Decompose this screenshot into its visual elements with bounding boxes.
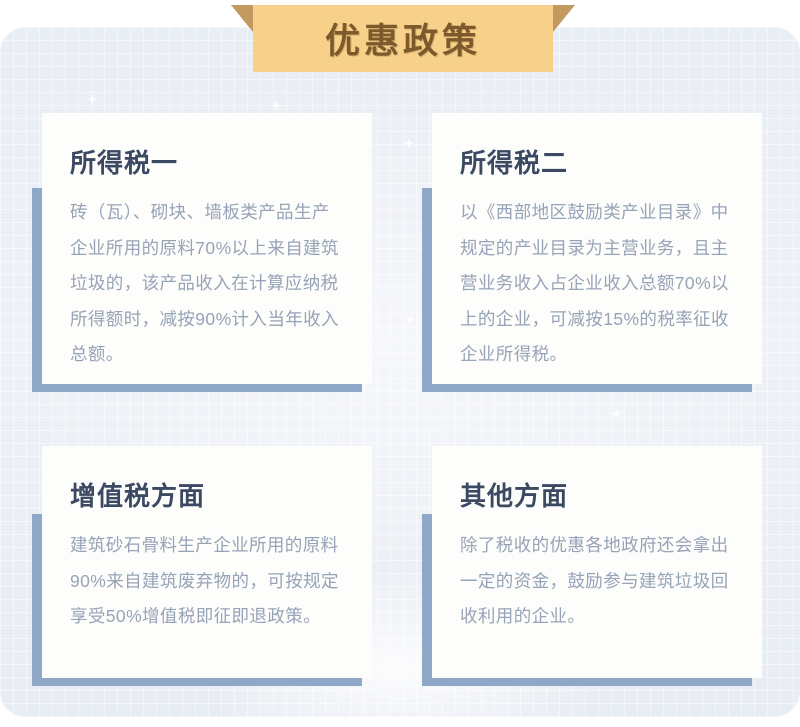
sparkle-icon <box>272 101 281 110</box>
card-title: 所得税二 <box>460 143 734 180</box>
card-surface: 所得税一 砖（瓦）、砌块、墙板类产品生产企业所用的原料70%以上来自建筑垃圾的，… <box>42 113 372 384</box>
sparkle-icon <box>88 95 97 104</box>
sparkle-icon <box>612 409 621 418</box>
sparkle-icon <box>404 139 413 148</box>
card-body: 建筑砂石骨料生产企业所用的原料90%来自建筑废弃物的，可按规定享受50%增值税即… <box>70 528 344 635</box>
header-ribbon: 优惠政策 <box>253 5 553 72</box>
page-title: 优惠政策 <box>253 5 553 72</box>
policy-card-income-tax-2: 所得税二 以《西部地区鼓励类产业目录》中规定的产业目录为主营业务，且主营业务收入… <box>432 113 762 384</box>
card-surface: 增值税方面 建筑砂石骨料生产企业所用的原料90%来自建筑废弃物的，可按规定享受5… <box>42 446 372 678</box>
ribbon-fold-left-icon <box>231 5 253 32</box>
card-body: 以《西部地区鼓励类产业目录》中规定的产业目录为主营业务，且主营业务收入占企业收入… <box>460 195 734 373</box>
card-surface: 所得税二 以《西部地区鼓励类产业目录》中规定的产业目录为主营业务，且主营业务收入… <box>432 113 762 384</box>
ribbon-fold-right-icon <box>553 5 575 32</box>
policy-card-income-tax-1: 所得税一 砖（瓦）、砌块、墙板类产品生产企业所用的原料70%以上来自建筑垃圾的，… <box>42 113 372 384</box>
card-surface: 其他方面 除了税收的优惠各地政府还会拿出一定的资金，鼓励参与建筑垃圾回收利用的企… <box>432 446 762 678</box>
policy-card-other: 其他方面 除了税收的优惠各地政府还会拿出一定的资金，鼓励参与建筑垃圾回收利用的企… <box>432 446 762 678</box>
card-title: 所得税一 <box>70 143 344 180</box>
infographic-root: 优惠政策 所得税一 砖（瓦）、砌块、墙板类产品生产企业所用的原料70%以上来自建… <box>0 0 800 727</box>
card-body: 砖（瓦）、砌块、墙板类产品生产企业所用的原料70%以上来自建筑垃圾的，该产品收入… <box>70 195 344 373</box>
card-title: 其他方面 <box>460 476 734 513</box>
card-title: 增值税方面 <box>70 476 344 513</box>
sparkle-icon <box>406 315 415 324</box>
policy-card-vat: 增值税方面 建筑砂石骨料生产企业所用的原料90%来自建筑废弃物的，可按规定享受5… <box>42 446 372 678</box>
card-body: 除了税收的优惠各地政府还会拿出一定的资金，鼓励参与建筑垃圾回收利用的企业。 <box>460 528 734 635</box>
